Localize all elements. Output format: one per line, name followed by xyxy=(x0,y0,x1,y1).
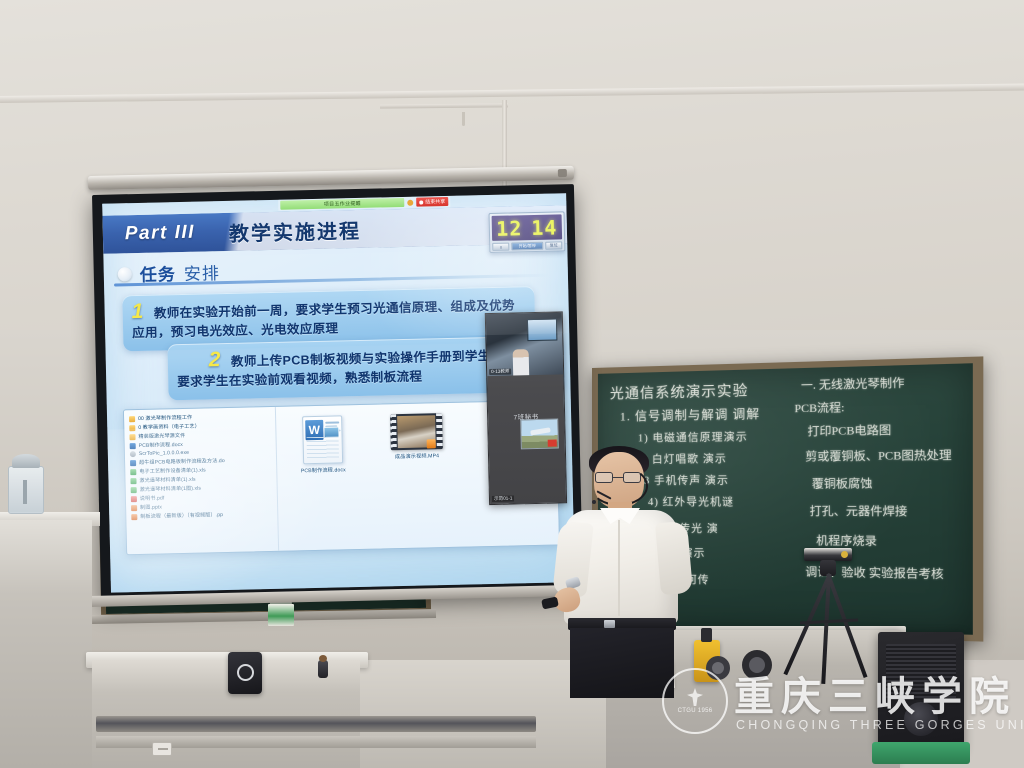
film-strip xyxy=(390,414,397,450)
stop-share-label: 结束共享 xyxy=(425,198,445,205)
camera-feed: 0-13教师 xyxy=(486,312,563,376)
chalk-line: 一. 无线激光琴制作 xyxy=(801,374,905,393)
folder-icon xyxy=(129,434,135,440)
countdown-timer[interactable]: 12 14 II 开始/暂停 复位 xyxy=(489,211,566,253)
file-caption: 成品演示视频.MP4 xyxy=(395,452,439,460)
share-title-chip: 项目五作业提醒 xyxy=(280,198,404,210)
folder-icon xyxy=(129,416,135,422)
camera-lens-icon xyxy=(841,551,848,558)
timer-minutes: 12 xyxy=(496,216,523,241)
record-dot-icon[interactable] xyxy=(407,199,413,205)
task-number: 2 xyxy=(209,348,221,371)
file-name: PCB制作流程.docx xyxy=(139,441,183,449)
video-file-icon xyxy=(390,413,443,450)
tripod-leg xyxy=(826,573,867,678)
loudspeaker xyxy=(878,632,964,750)
file-name: 00 激光琴制作流程工作 xyxy=(138,414,192,422)
timer-buttons[interactable]: II 开始/暂停 复位 xyxy=(492,241,562,251)
conference-footer-label: 示范01-1 xyxy=(492,495,515,502)
jar-stem xyxy=(23,480,27,504)
airplane-icon xyxy=(530,427,551,435)
jar-lid xyxy=(12,454,40,468)
film-strip xyxy=(436,413,443,449)
presentation-slide: 项目五作业提醒 结束共享 Part III 教学实施进程 任务 安排 xyxy=(102,193,575,592)
timer-reset-button[interactable]: 复位 xyxy=(545,241,562,249)
timer-start-button[interactable]: 开始/暂停 xyxy=(511,242,543,251)
stop-share-button[interactable]: 结束共享 xyxy=(416,197,448,207)
wall-conduit-drop xyxy=(462,112,465,126)
list-item[interactable]: 制板流程（最新版）（有视频版）.pp xyxy=(131,510,274,520)
word-doc-icon: W xyxy=(302,415,343,464)
bench-rail-upper xyxy=(96,716,536,732)
file-caption: PCB制作流程.docx xyxy=(301,466,346,474)
chalk-box xyxy=(268,604,294,626)
word-icon xyxy=(130,460,136,466)
belt-buckle xyxy=(604,620,615,628)
file-name: 0 教学画资料（电子工艺） xyxy=(138,423,200,431)
speaker-grille xyxy=(886,644,956,700)
task-number: 1 xyxy=(131,300,143,323)
shirt-placket xyxy=(618,520,620,616)
portable-amplifier[interactable] xyxy=(228,652,262,694)
play-badge-icon xyxy=(427,439,436,448)
conference-stage: 7班秘书 xyxy=(487,374,565,472)
excel-icon xyxy=(130,478,136,484)
feed-person xyxy=(513,349,530,375)
timer-pause-button[interactable]: II xyxy=(492,243,509,251)
bullet-icon xyxy=(118,267,132,281)
chalk-line: PCB流程: xyxy=(794,399,844,417)
projection-screen: 项目五作业提醒 结束共享 Part III 教学实施进程 任务 安排 xyxy=(92,184,583,605)
doc-body-lines xyxy=(307,436,339,459)
file-name: ScrToPic_1.0.0.0.exe xyxy=(139,450,189,457)
chalk-line: 剪或覆铜板、PCB图热处理 xyxy=(805,446,951,464)
file-name: 超牛组PCB电路板制作流程及方法.do xyxy=(139,457,225,466)
camera-tripod xyxy=(786,548,870,700)
doc-line xyxy=(325,421,339,423)
bench-joystick[interactable] xyxy=(318,660,328,678)
classroom-scene: 光通信系统演示实验 1. 信号调制与解调 调解 1) 电磁通信原理演示 2 白灯… xyxy=(0,0,1024,768)
ppt-icon xyxy=(131,505,137,511)
folder-icon xyxy=(129,425,135,431)
excel-icon xyxy=(131,487,137,493)
file-list[interactable]: 00 激光琴制作流程工作 0 教学画资料（电子工艺） 精装版激光琴源文件 PCB… xyxy=(124,407,279,554)
file-name: 说明书.pdf xyxy=(140,494,165,502)
speaker-cone xyxy=(904,702,938,736)
chalk-line: 1) 电磁通信原理演示 xyxy=(638,429,748,446)
slide-title: 教学实施进程 xyxy=(229,214,362,246)
amplifier-speaker-icon xyxy=(237,664,254,681)
screen-pull-knob[interactable] xyxy=(558,169,567,177)
pdf-icon xyxy=(131,496,137,502)
red-marker-icon xyxy=(548,440,557,447)
cable-reel-small xyxy=(706,656,730,680)
presenter-trousers xyxy=(570,628,674,698)
file-thumbnail[interactable]: 成品演示视频.MP4 xyxy=(379,413,456,545)
exe-icon xyxy=(130,451,136,457)
camera-feed-label: 0-13教师 xyxy=(489,369,512,376)
lab-glassware xyxy=(4,452,48,516)
chalk-line: 光通信系统演示实验 xyxy=(610,380,749,404)
stop-icon xyxy=(419,200,423,204)
speaker-base-mat xyxy=(872,742,970,764)
presenter xyxy=(556,448,688,698)
video-conference-panel[interactable]: 0-13教师 7班秘书 示范01-1 xyxy=(485,311,567,505)
presenter-right-arm xyxy=(655,521,693,596)
headset-mic-tip xyxy=(592,500,596,504)
word-icon xyxy=(130,443,136,449)
file-name: 精装版激光琴源文件 xyxy=(138,432,185,440)
part-label: Part III xyxy=(103,222,196,246)
chalk-line: 1. 信号调制与解调 调解 xyxy=(620,405,760,425)
cable-reel-large xyxy=(742,650,772,680)
file-name: 制图.pptx xyxy=(140,503,162,510)
headset-band xyxy=(590,466,648,506)
shared-thumbnail[interactable] xyxy=(520,418,559,449)
chalk-line: 打印PCB电路图 xyxy=(807,421,891,439)
feed-monitor xyxy=(527,318,557,341)
chalk-line: 覆铜板腐蚀 xyxy=(812,475,873,492)
chalk-line: 打孔、元器件焊接 xyxy=(810,502,908,519)
side-cabinet xyxy=(0,520,92,768)
task-text: 教师在实验开始前一周，要求学生预习光通信原理、组成及优势应用，预习电光效应、光电… xyxy=(132,298,515,340)
file-name: 电子工艺制作设备清单(1).xls xyxy=(139,466,206,475)
chalk-line: 机程序烧录 xyxy=(816,532,877,549)
file-name: 制板流程（最新版）（有视频版）.pp xyxy=(140,511,223,520)
timer-seconds: 14 xyxy=(531,215,558,240)
ppt-icon xyxy=(131,514,137,520)
file-name: 激光遥琴材料清单(1).xls xyxy=(139,476,195,484)
wall-socket xyxy=(152,742,172,756)
file-name: 激光遥琴材料清单(1图).xls xyxy=(140,485,201,493)
timer-display: 12 14 xyxy=(492,214,563,241)
file-thumbnail[interactable]: W PCB制作流程.docx xyxy=(285,415,362,547)
excel-icon xyxy=(130,469,136,475)
